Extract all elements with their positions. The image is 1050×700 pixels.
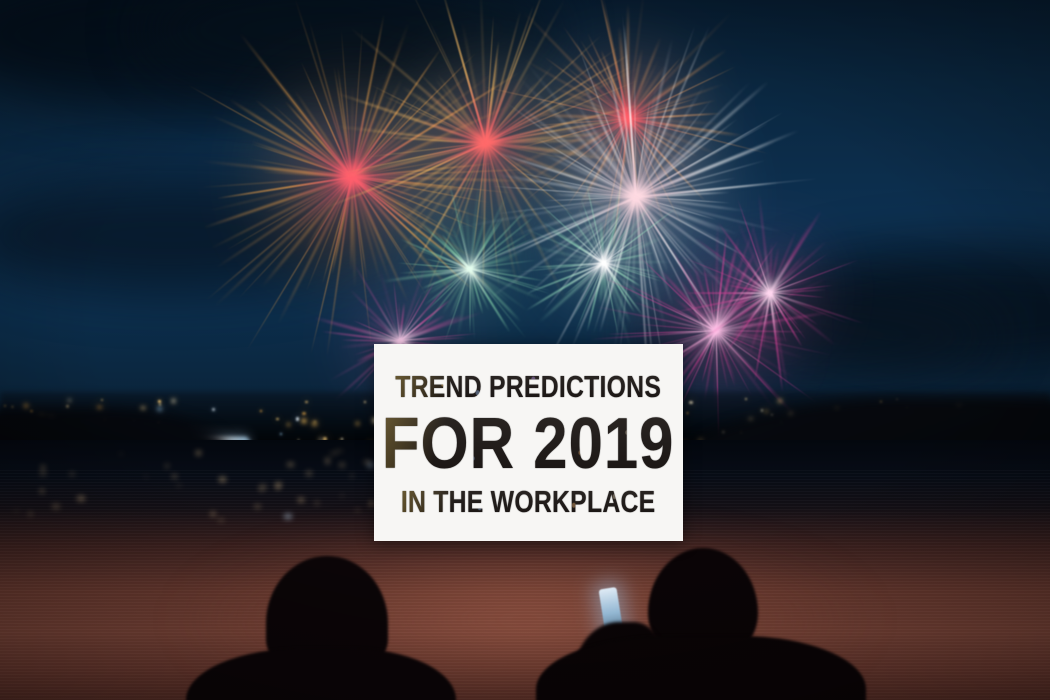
headline-line-2: FOR 2019 [382,408,675,480]
city-light [687,412,689,414]
headline-line-3: IN THE WORKPLACE [401,486,656,517]
light-reflection [165,464,169,468]
city-light [159,403,162,406]
city-light [296,417,299,420]
city-light [302,412,305,415]
light-reflection [368,462,373,468]
hero-banner: TREND PREDICTIONS FOR 2019 IN THE WORKPL… [0,0,1050,700]
light-reflection [330,452,337,455]
city-light [356,422,359,425]
city-light [276,418,278,420]
city-light [4,405,6,407]
headline-card: TREND PREDICTIONS FOR 2019 IN THE WORKPL… [374,344,683,541]
city-light [761,409,763,411]
city-light [312,421,317,426]
city-light [689,401,692,404]
light-reflection [326,458,329,463]
light-reflection [339,463,345,467]
city-light [172,399,176,403]
headline-line-1: TREND PREDICTIONS [396,371,662,402]
city-light [157,407,162,412]
